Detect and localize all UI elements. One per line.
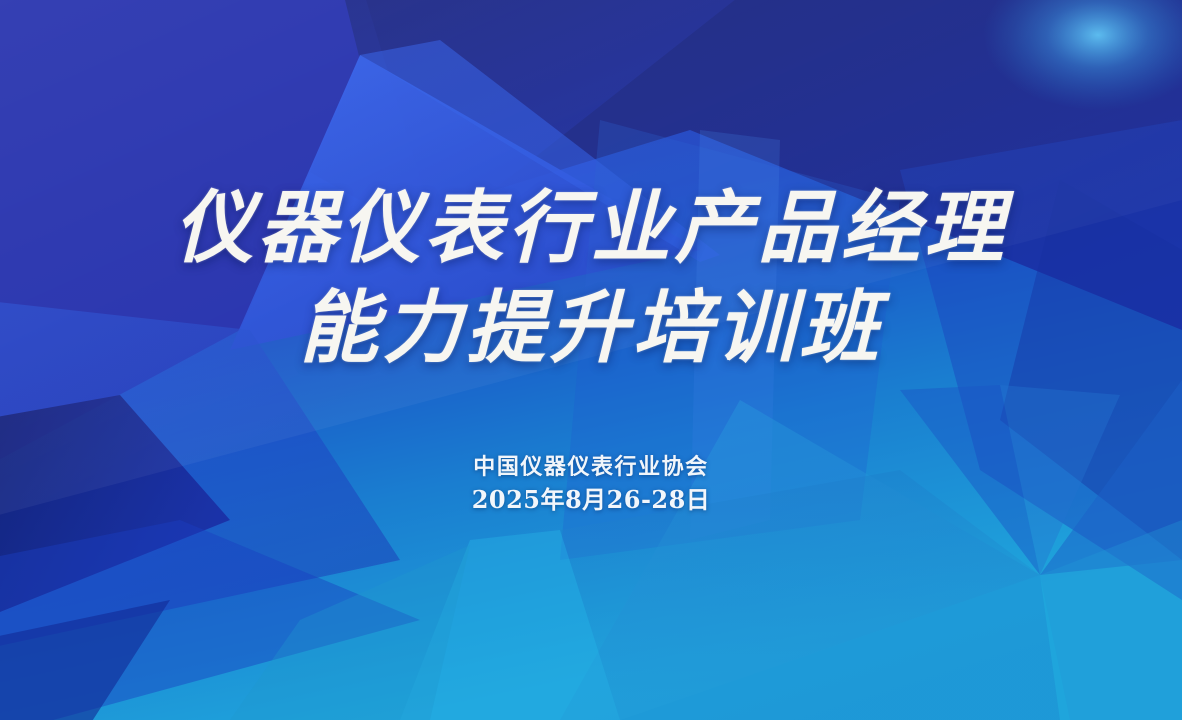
banner-text-layer: 仪器仪表行业产品经理 能力提升培训班 中国仪器仪表行业协会 2025年8月26-… <box>0 0 1182 720</box>
banner-subtitle-dates: 2025年8月26-28日 <box>0 488 1182 512</box>
banner-title-line-1: 仪器仪表行业产品经理 <box>0 188 1182 267</box>
conference-banner: 仪器仪表行业产品经理 能力提升培训班 中国仪器仪表行业协会 2025年8月26-… <box>0 0 1182 720</box>
banner-subtitle-organization: 中国仪器仪表行业协会 <box>0 456 1182 478</box>
banner-title-line-2: 能力提升培训班 <box>0 288 1182 367</box>
